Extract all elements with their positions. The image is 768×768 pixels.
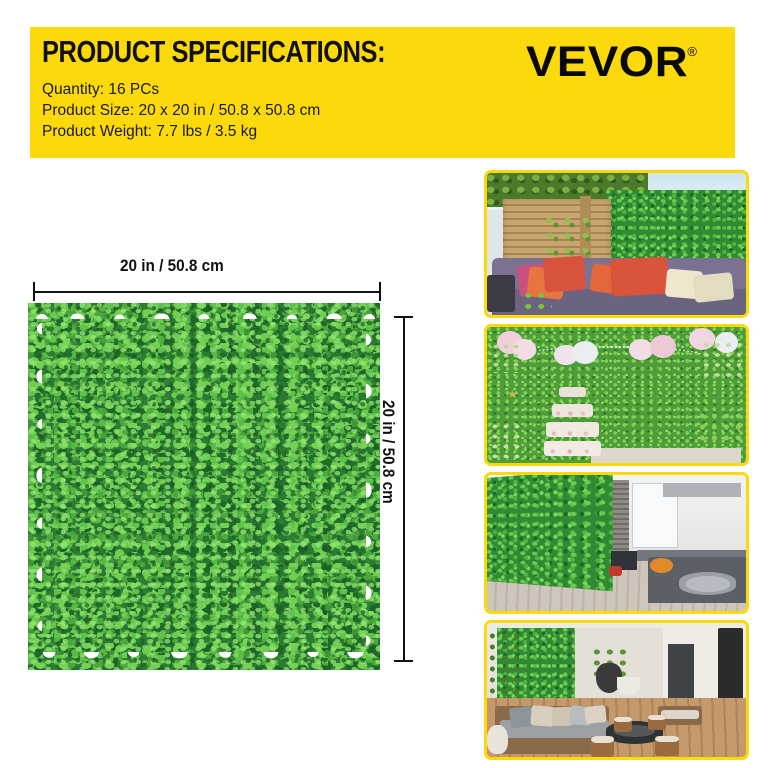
side-table — [487, 275, 515, 312]
hedge-edge-top — [28, 303, 380, 319]
foliage-accent — [490, 422, 526, 460]
log-stool — [591, 736, 614, 757]
cake-floral-trim — [546, 431, 598, 436]
width-dimension-cap-right — [379, 282, 381, 301]
brand-name: VEVOR — [526, 41, 688, 84]
hedge-edge-left — [28, 303, 42, 670]
log-stool — [614, 717, 632, 732]
sink-inner — [686, 576, 730, 592]
balloon — [629, 339, 652, 359]
cushion — [585, 705, 607, 724]
spec-banner: PRODUCT SPECIFICATIONS: Quantity: 16 PCs… — [30, 27, 735, 158]
string-garland — [518, 346, 704, 367]
cake-tier — [546, 422, 598, 436]
product-spec-sheet: PRODUCT SPECIFICATIONS: Quantity: 16 PCs… — [0, 0, 768, 768]
width-dimension-cap-left — [33, 282, 35, 301]
width-dimension-line — [33, 291, 381, 293]
entry-door — [718, 628, 744, 706]
cushion — [693, 272, 734, 303]
foliage-accent — [702, 341, 741, 382]
registered-trademark-icon: ® — [687, 45, 697, 58]
decor-accent — [609, 566, 622, 576]
width-dimension-label: 20 in / 50.8 cm — [120, 256, 224, 276]
cushion — [610, 257, 669, 297]
scene-party-backdrop — [487, 327, 746, 463]
thumbnail-indoor-kitchen[interactable] — [484, 472, 749, 614]
dessert-table — [591, 448, 741, 463]
product-main-image — [28, 303, 380, 670]
brand-logo: VEVOR ® — [526, 41, 697, 84]
spec-product-size: Product Size: 20 x 20 in / 50.8 x 50.8 c… — [42, 100, 320, 121]
thumbnail-party-backdrop[interactable] — [484, 324, 749, 466]
height-dimension-cap-bottom — [394, 660, 413, 662]
page-title: PRODUCT SPECIFICATIONS: — [42, 34, 385, 70]
potted-plant — [523, 291, 551, 315]
tiered-cake — [544, 383, 601, 459]
cake-tier — [552, 404, 593, 417]
log-stool-top — [591, 736, 614, 743]
floor-vase — [487, 725, 508, 754]
log-stool-top — [655, 736, 678, 743]
scene-indoor-kitchen — [487, 475, 746, 611]
planter-pot — [617, 677, 640, 696]
cake-floral-trim — [544, 449, 601, 454]
spec-list: Quantity: 16 PCs Product Size: 20 x 20 i… — [42, 79, 320, 142]
height-dimension-label: 20 in / 50.8 cm — [378, 400, 398, 504]
thumbnail-courtyard-lounge[interactable] — [484, 620, 749, 760]
log-stool-top — [614, 717, 632, 722]
spec-product-weight: Product Weight: 7.7 lbs / 3.5 kg — [42, 121, 320, 142]
cushion — [543, 255, 587, 292]
balloon — [572, 341, 598, 364]
spec-quantity: Quantity: 16 PCs — [42, 79, 320, 100]
thumbnail-outdoor-patio[interactable] — [484, 170, 749, 318]
glass-door — [668, 644, 694, 698]
log-stool — [655, 736, 678, 756]
range-hood — [663, 483, 741, 497]
green-wall-panel — [487, 475, 612, 591]
lounge-chair-cushion — [661, 710, 700, 719]
cake-floral-trim — [552, 411, 593, 416]
log-stool — [648, 715, 666, 730]
cake-tier — [559, 387, 586, 397]
log-stool-top — [648, 715, 666, 720]
cake-tier — [544, 441, 601, 456]
foliage-accent — [492, 343, 523, 373]
scene-courtyard-lounge — [487, 623, 746, 757]
hedge-edge-right — [366, 303, 380, 670]
height-dimension-line — [403, 316, 405, 662]
height-dimension-cap-top — [394, 316, 413, 318]
scene-outdoor-patio — [487, 173, 746, 315]
hedge-edge-bottom — [28, 652, 380, 670]
hedge-texture-overlay — [28, 303, 380, 670]
